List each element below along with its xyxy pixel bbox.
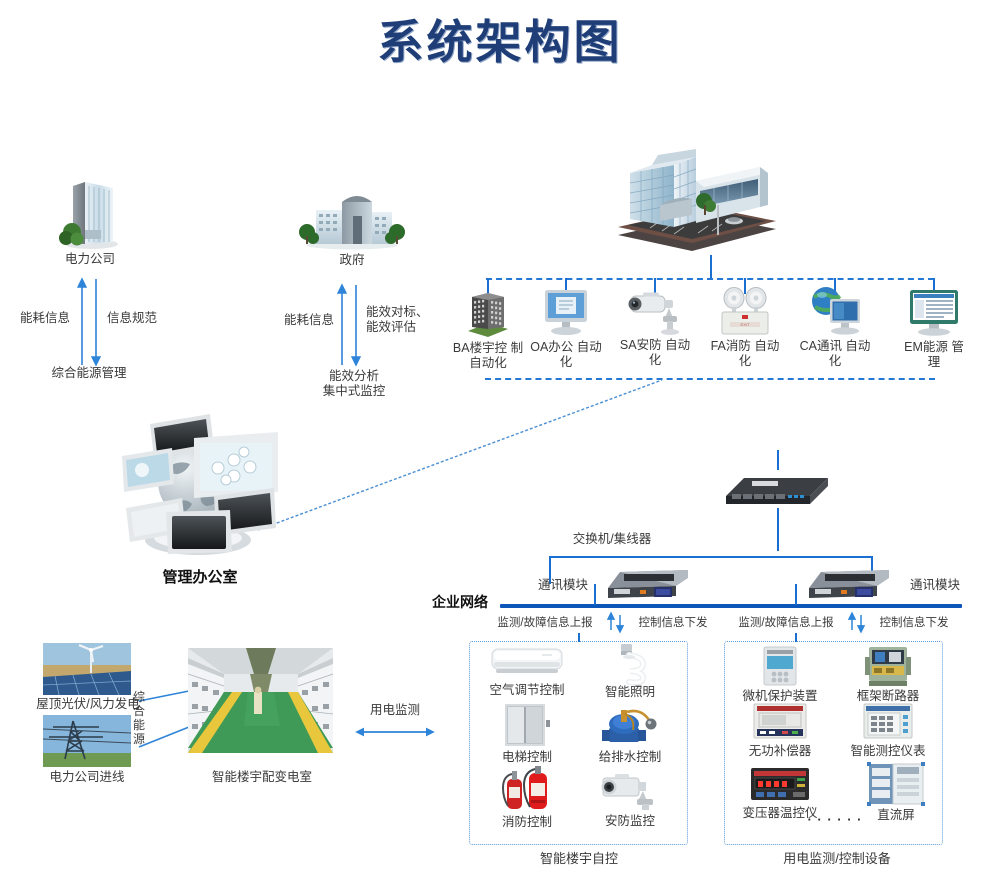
integrated-energy-management-label: 综合能源管理	[24, 366, 154, 381]
panel-left-item-0[interactable]: 空气调节控制	[477, 645, 577, 698]
panel-left-label-2: 电梯控制	[477, 750, 577, 765]
panel-left-label-4: 消防控制	[477, 815, 577, 830]
elevator-icon	[501, 702, 553, 748]
switch-upper-line	[777, 450, 779, 470]
panel-left-dropline	[578, 633, 580, 642]
panel-right-item-0[interactable]: 微机保护装置	[730, 645, 830, 704]
comm-module-right-icon	[805, 566, 893, 600]
globe-monitor-icon	[806, 285, 864, 337]
svg-text:EXIT: EXIT	[741, 322, 750, 327]
panel-left-item-3[interactable]: 给排水控制	[580, 702, 680, 765]
government-building-icon	[296, 188, 408, 250]
panel-left-caption: 智能楼宇自控	[508, 851, 650, 866]
dc-panel-icon	[867, 762, 925, 806]
emergency-light-icon: EXIT	[714, 287, 776, 337]
power-grid-label: 电力公司进线	[22, 770, 152, 785]
power-monitoring-arrow	[352, 724, 438, 740]
comm-module-right-label: 通讯模块	[896, 578, 974, 593]
substation-label: 智能楼宇配变电室	[196, 770, 328, 785]
government-up-label: 能耗信息	[278, 313, 340, 328]
automation-item-sa[interactable]: SA安防 自动化	[618, 288, 692, 368]
panel-right-item-1[interactable]: 框架断路器	[838, 645, 938, 704]
government-down-label: 能效对标、 能效评估	[366, 305, 436, 335]
automation-item-em[interactable]: EM能源 管理	[898, 288, 970, 370]
panel-right-label-2: 无功补偿器	[730, 744, 830, 759]
enterprise-link-right	[795, 584, 797, 605]
automation-item-ba[interactable]: BA楼宇控 制自动化	[452, 285, 524, 371]
energy-monitor-icon	[905, 288, 963, 338]
panel-left-item-2[interactable]: 电梯控制	[477, 702, 577, 765]
automation-item-oa[interactable]: OA办公 自动化	[530, 288, 602, 370]
government-label: 政府	[312, 253, 392, 268]
switch-lower-line	[777, 508, 779, 551]
panel-left-item-5[interactable]: 安防监控	[580, 768, 680, 829]
flow-down-label-right: 控制信息下发	[868, 616, 960, 631]
panel-left-item-4[interactable]: 消防控制	[477, 765, 577, 830]
management-office-label: 管理办公室	[130, 570, 270, 585]
power-grid-image	[43, 715, 131, 767]
automation-label-ca: CA通讯 自动化	[798, 339, 872, 369]
automation-label-fa: FA消防 自动化	[708, 339, 782, 369]
panel-right-caption: 用电监测/控制设备	[762, 851, 912, 866]
smart-meter-icon	[862, 702, 914, 742]
cfl-bulb-icon	[607, 643, 653, 683]
management-office-link-line	[250, 375, 670, 535]
switch-icon	[722, 470, 832, 510]
building-dropline	[710, 255, 712, 278]
panel-right-item-3[interactable]: 智能测控仪表	[838, 702, 938, 759]
power-company-icon	[55, 178, 125, 250]
automation-label-sa: SA安防 自动化	[618, 338, 692, 368]
panel-left-item-1[interactable]: 智能照明	[580, 643, 680, 700]
enterprise-network-bar	[500, 604, 962, 608]
automation-label-ba: BA楼宇控 制自动化	[452, 341, 524, 371]
office-building-icon	[462, 285, 514, 339]
panel-right-label-3: 智能测控仪表	[838, 744, 938, 759]
comm-module-left-label: 通讯模块	[524, 578, 602, 593]
compensator-icon	[752, 702, 808, 742]
panel-left-label-1: 智能照明	[580, 685, 680, 700]
substation-image	[188, 648, 333, 753]
fire-extinguisher-icon	[497, 765, 557, 813]
smart-building-icon	[600, 143, 780, 255]
flow-down-label-left: 控制信息下发	[627, 616, 719, 631]
solar-wind-image	[43, 643, 131, 695]
panel-right-dropline	[795, 633, 797, 642]
panel-left-label-0: 空气调节控制	[477, 683, 577, 698]
integrated-energy-arrow-label: 综合能源	[130, 690, 148, 746]
security-camera-icon	[597, 768, 663, 812]
comm-module-left-icon	[604, 566, 692, 600]
page-title: 系统架构图	[0, 6, 1000, 72]
power-company-label: 电力公司	[30, 252, 150, 267]
enterprise-link-left	[594, 584, 596, 605]
panel-left-label-3: 给排水控制	[580, 750, 680, 765]
air-conditioner-icon	[490, 645, 564, 681]
circuit-breaker-icon	[863, 645, 913, 687]
panel-left-label-5: 安防监控	[580, 814, 680, 829]
temp-controller-icon	[749, 766, 811, 804]
power-monitoring-label: 用电监测	[356, 703, 434, 718]
switch-label: 交换机/集线器	[532, 532, 692, 547]
power-company-up-label: 能耗信息	[14, 311, 76, 326]
automation-label-oa: OA办公 自动化	[530, 340, 602, 370]
automation-item-fa[interactable]: EXIT FA消防 自动化	[708, 287, 782, 369]
flow-up-label-right: 监测/故障信息上报	[726, 616, 846, 631]
module-bus	[549, 556, 873, 558]
automation-item-ca[interactable]: CA通讯 自动化	[798, 285, 872, 369]
monitor-icon	[539, 288, 593, 338]
management-office-icon	[118, 410, 283, 560]
cctv-camera-icon	[623, 288, 687, 336]
power-company-down-label: 信息规范	[101, 311, 163, 326]
flow-arrows-right	[848, 613, 868, 633]
automation-bus-dashed	[486, 278, 934, 280]
flow-up-label-left: 监测/故障信息上报	[485, 616, 605, 631]
water-valve-icon	[599, 702, 661, 748]
panel-right-ellipsis: · · · · · ·	[790, 812, 880, 827]
panel-right-item-2[interactable]: 无功补偿器	[730, 702, 830, 759]
automation-label-em: EM能源 管理	[898, 340, 970, 370]
flow-arrows-left	[607, 613, 627, 633]
protection-relay-icon	[760, 645, 800, 687]
enterprise-network-label: 企业网络	[432, 595, 500, 610]
